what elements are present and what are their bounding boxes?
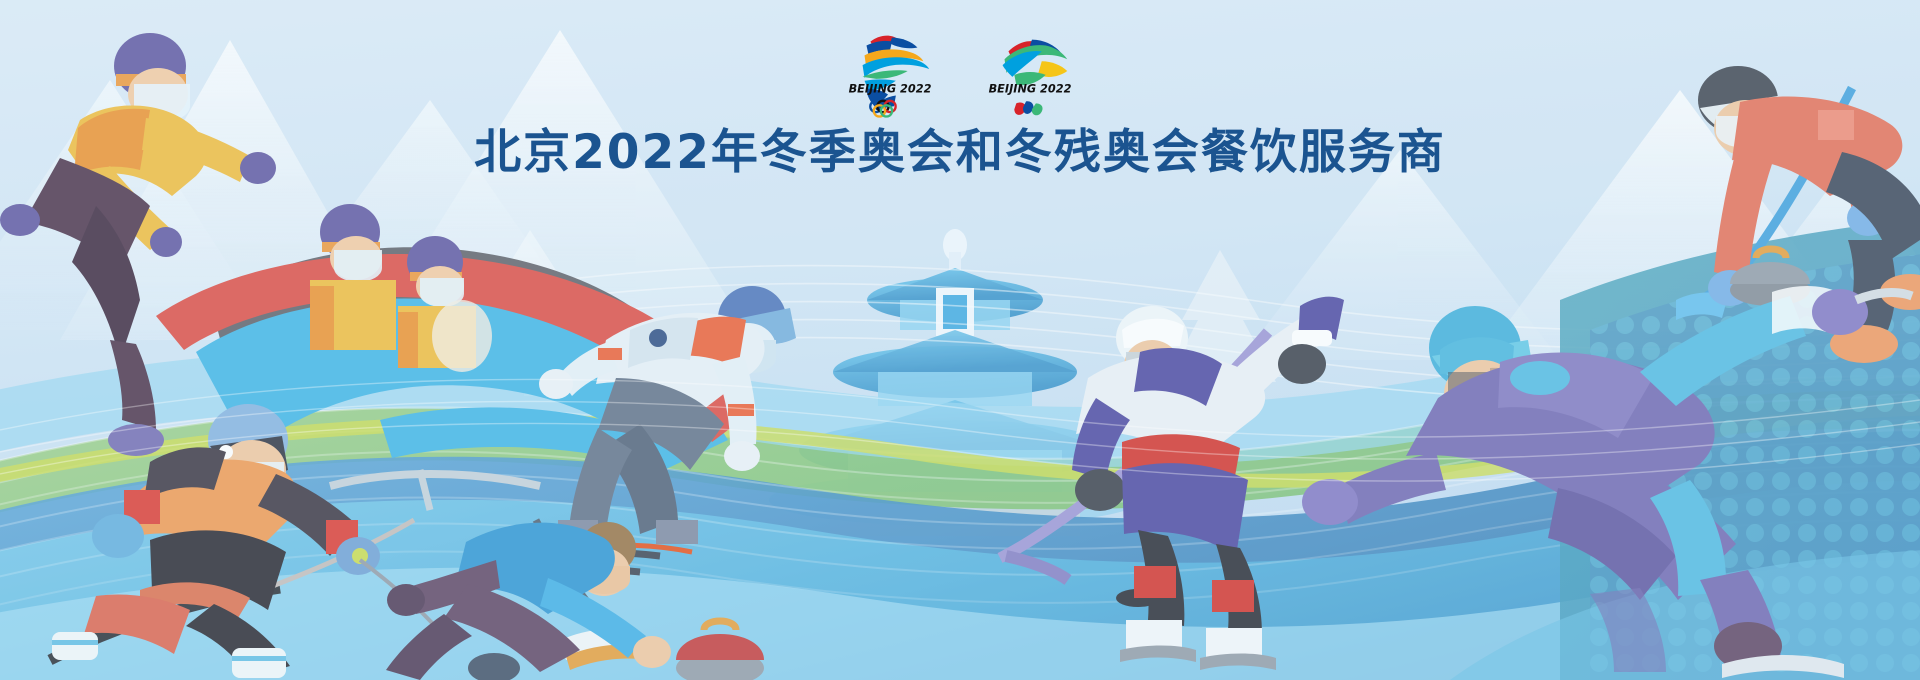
paralympic-wordmark: BEIJING 2022	[989, 83, 1072, 96]
winter-dream-mark	[863, 36, 930, 111]
olympic-wordmark: BEIJING 2022	[849, 83, 932, 96]
beijing-2022-catering-sponsor-banner: BEIJING 2022	[0, 0, 1920, 680]
beijing-2022-paralympic-emblem: BEIJING 2022	[981, 22, 1079, 120]
emblem-row: BEIJING 2022	[0, 22, 1920, 120]
beijing-2022-olympic-emblem: BEIJING 2022	[841, 22, 939, 120]
flying-high-mark	[1003, 40, 1068, 86]
paralympic-agitos	[1014, 101, 1042, 115]
